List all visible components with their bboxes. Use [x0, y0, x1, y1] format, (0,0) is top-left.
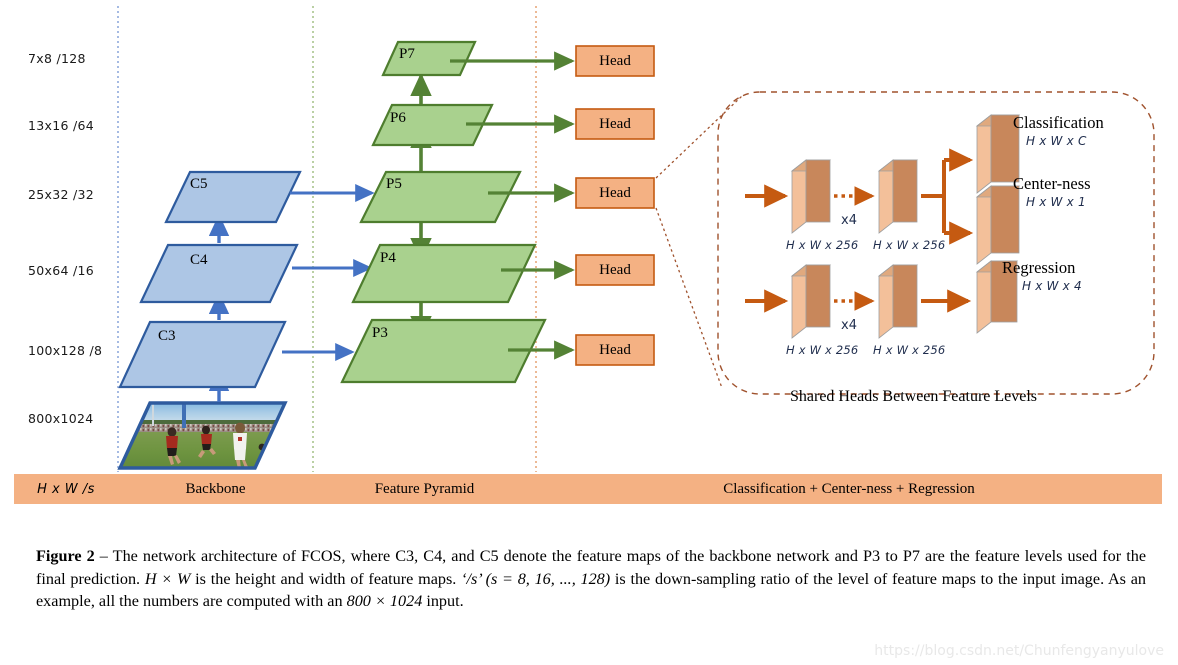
head-label-p6[interactable]: Head [576, 109, 654, 139]
figure-canvas: 7x8 /128 13x16 /64 25x32 /32 50x64 /16 1… [0, 0, 1178, 520]
scale-label-p4: 50x64 /16 [28, 263, 94, 278]
stage-label-axis: H x W /s [14, 474, 118, 504]
caption-body-2: is the height and width of feature maps. [190, 570, 461, 588]
output-slab-centerness [977, 186, 1019, 264]
stage-bar: H x W /s Backbone Feature Pyramid Classi… [14, 474, 1162, 504]
caption-math-2: ‘/s’ (s = 8, 16, ..., 128) [461, 570, 610, 588]
label-c3: C3 [158, 328, 176, 345]
repeat-label-reg: x4 [841, 318, 857, 333]
conv-slab-cls-2 [879, 160, 917, 233]
conv-dim-cls-1: H x W x 256 [786, 238, 858, 252]
output-dim-classification: H x W x C [1026, 134, 1087, 148]
watermark: https://blog.csdn.net/Chunfengyanyulove [874, 643, 1164, 659]
pyramid-node-p5[interactable] [361, 172, 520, 222]
label-p6: P6 [390, 110, 406, 127]
conv-dim-cls-2: H x W x 256 [873, 238, 945, 252]
conv-slab-reg-1 [792, 265, 830, 338]
conv-slab-reg-2 [879, 265, 917, 338]
backbone-node-c3[interactable] [120, 322, 285, 387]
caption-math-3: 800 × 1024 [347, 592, 423, 610]
detail-panel-footer: Shared Heads Between Feature Levels [790, 388, 1037, 406]
label-p3: P3 [372, 325, 388, 342]
lateral-connection-arrows [282, 193, 372, 352]
scale-label-p7: 7x8 /128 [28, 51, 86, 66]
head-label-p4[interactable]: Head [576, 255, 654, 285]
figure-caption: Figure 2 – The network architecture of F… [36, 545, 1146, 613]
output-dim-regression: H x W x 4 [1022, 279, 1082, 293]
caption-body-4: input. [422, 592, 463, 610]
output-name-regression: Regression [1002, 258, 1075, 278]
head-label-p5[interactable]: Head [576, 178, 654, 208]
detail-zoom-leaders [656, 96, 742, 388]
stage-label-heads: Classification + Center-ness + Regressio… [536, 474, 1162, 504]
conv-slab-cls-1 [792, 160, 830, 233]
backbone-node-c4[interactable] [141, 245, 297, 302]
head-label-p3[interactable]: Head [576, 335, 654, 365]
input-image [110, 398, 300, 476]
output-dim-centerness: H x W x 1 [1026, 195, 1086, 209]
label-c5: C5 [190, 176, 208, 193]
backbone-node-c5[interactable] [166, 172, 300, 222]
output-name-classification: Classification [1013, 113, 1104, 133]
caption-figure-number: Figure 2 [36, 547, 95, 565]
conv-dim-reg-1: H x W x 256 [786, 343, 858, 357]
stage-label-feature-pyramid: Feature Pyramid [313, 474, 536, 504]
pyramid-node-p7[interactable] [383, 42, 475, 75]
label-p7: P7 [399, 46, 415, 63]
head-label-p7[interactable]: Head [576, 46, 654, 76]
label-p4: P4 [380, 250, 396, 267]
caption-math-1: H × W [145, 570, 191, 588]
detail-branch-regression [745, 261, 1017, 338]
conv-dim-reg-2: H x W x 256 [873, 343, 945, 357]
scale-label-p6: 13x16 /64 [28, 118, 94, 133]
output-name-centerness: Center-ness [1013, 174, 1091, 194]
repeat-label-cls: x4 [841, 213, 857, 228]
scale-label-p5: 25x32 /32 [28, 187, 94, 202]
scale-label-input: 800x1024 [28, 411, 93, 426]
label-c4: C4 [190, 252, 208, 269]
stage-label-backbone: Backbone [118, 474, 313, 504]
label-p5: P5 [386, 176, 402, 193]
scale-label-p3: 100x128 /8 [28, 343, 102, 358]
